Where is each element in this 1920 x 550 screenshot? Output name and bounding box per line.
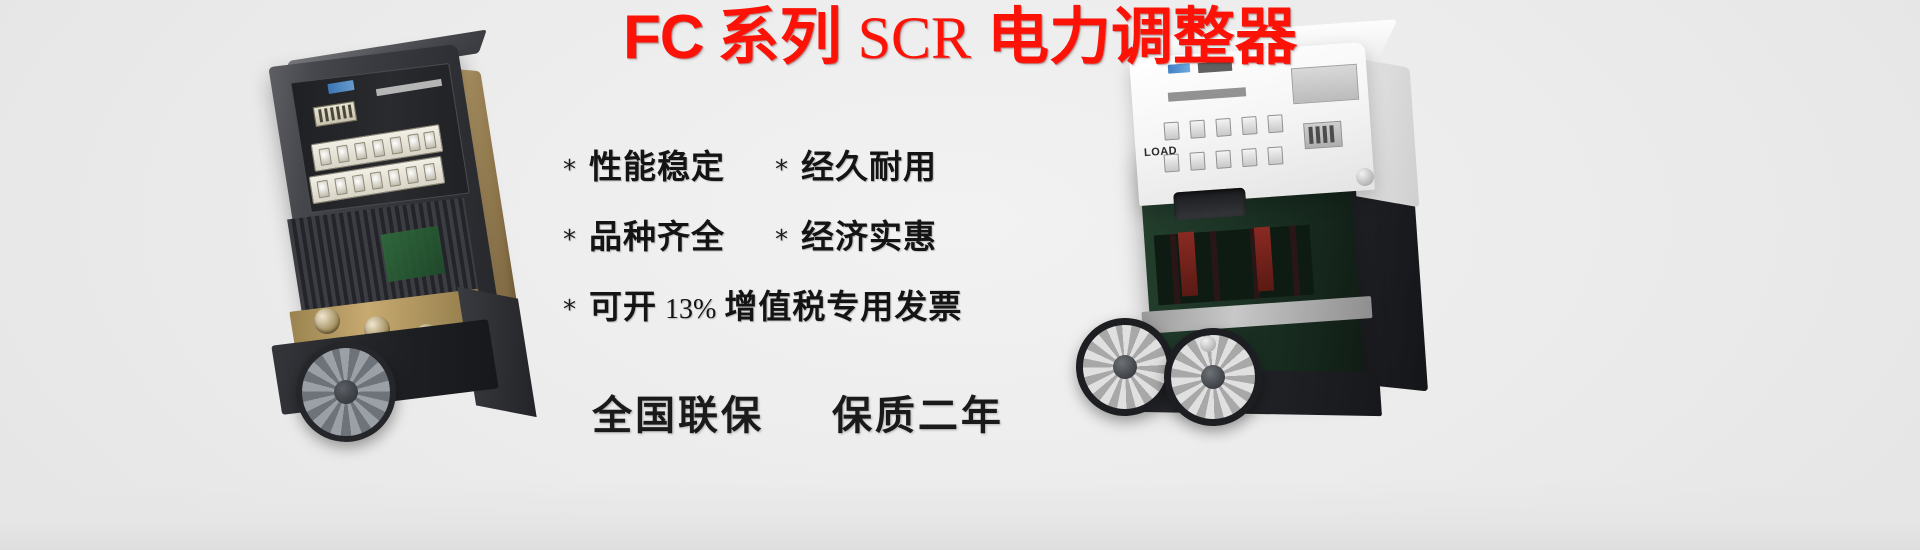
right-unit-indicator-block [1303, 121, 1343, 150]
guarantee-part-2: 保质二年 [832, 392, 1004, 439]
right-unit-handle [1173, 188, 1247, 221]
left-unit-pcb [381, 226, 446, 282]
banner-title: FC系列SCR电力调整器 [0, 6, 1920, 69]
title-part-scr: SCR [858, 5, 971, 71]
bullet-star-icon: * [563, 157, 589, 183]
product-image-left [236, 42, 546, 442]
feature-label: 性能稳定 [589, 140, 725, 188]
title-part-series: 系列 [718, 0, 842, 73]
feature-row: * 品种齐全 * 经济实惠 [563, 210, 1003, 258]
right-unit-load-label: LOAD [1144, 145, 1178, 159]
product-banner: LOAD FC系列SCR电力调整器 * 性能稳定 * 经久耐用 * 品种齐全 * [0, 0, 1920, 550]
bullet-star-icon: * [775, 157, 801, 183]
title-part-fc: FC [623, 3, 704, 72]
invoice-suffix: 增值税专用发票 [724, 280, 962, 328]
feature-item-durability: * 经久耐用 [775, 140, 937, 188]
feature-item-variety: * 品种齐全 [563, 210, 775, 258]
right-unit-label-strip [1291, 64, 1359, 105]
feature-row-invoice: * 可开 13% 增值税专用发票 [563, 280, 1003, 328]
feature-label: 经济实惠 [801, 210, 937, 258]
guarantee-part-1: 全国联保 [592, 392, 764, 439]
feature-list: * 性能稳定 * 经久耐用 * 品种齐全 * 经济实惠 * 可开 13% 增值税… [563, 140, 1003, 350]
product-image-right: LOAD [1060, 18, 1490, 438]
feature-label: 品种齐全 [589, 210, 725, 258]
feature-item-performance: * 性能稳定 [563, 140, 775, 188]
guarantee-text: 全国联保 保质二年 [563, 383, 1033, 441]
invoice-prefix: 可开 [589, 280, 657, 328]
bullet-star-icon: * [775, 227, 801, 253]
title-part-product: 电力调整器 [987, 0, 1297, 73]
feature-label: 经久耐用 [801, 140, 937, 188]
feature-row: * 性能稳定 * 经久耐用 [563, 140, 1003, 188]
feature-item-economy: * 经济实惠 [775, 210, 937, 258]
right-unit-screw [1200, 336, 1216, 352]
bullet-star-icon: * [563, 227, 589, 253]
invoice-tax-rate: 13% [665, 294, 716, 326]
bullet-star-icon: * [563, 297, 589, 323]
